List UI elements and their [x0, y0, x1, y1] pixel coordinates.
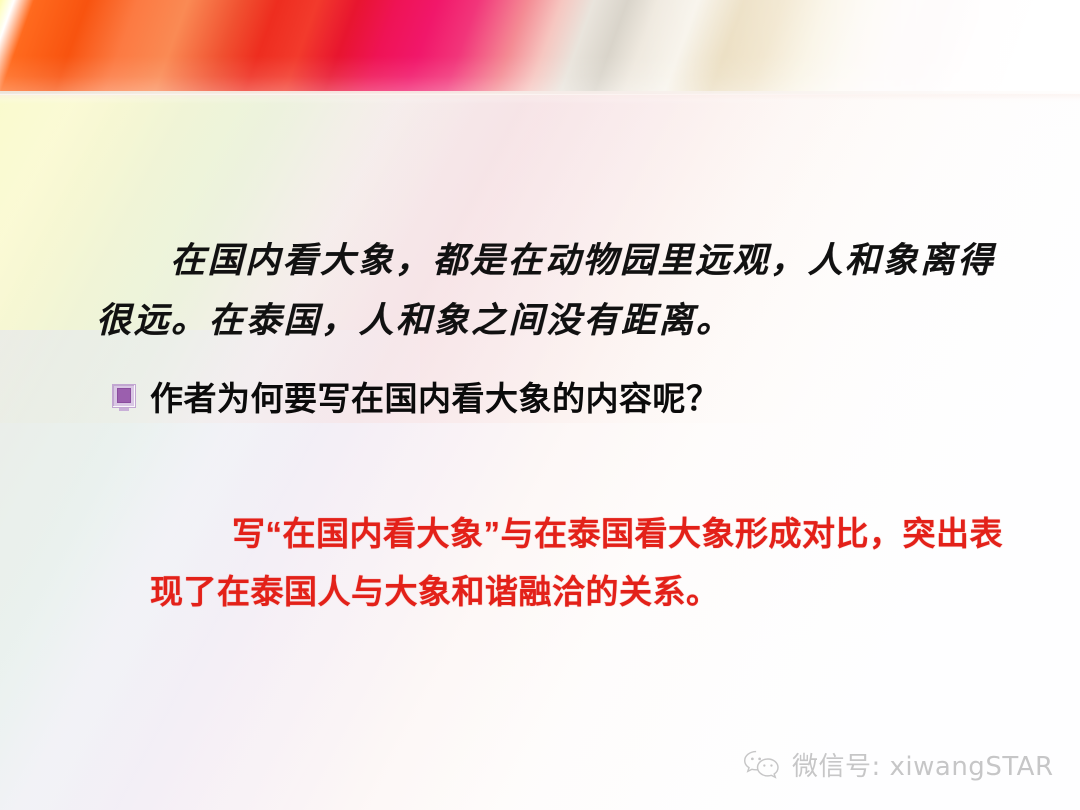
watermark-text: 微信号: xiwangSTAR: [792, 746, 1054, 783]
question-line: 作者为何要写在国内看大象的内容呢？: [112, 372, 720, 420]
footer-watermark: 微信号: xiwangSTAR: [742, 746, 1054, 783]
question-text: 作者为何要写在国内看大象的内容呢？: [150, 372, 720, 420]
wechat-icon: [742, 748, 782, 782]
slide-canvas: 在国内看大象，都是在动物园里远观，人和象离得很远。在泰国，人和象之间没有距离。 …: [0, 0, 1080, 810]
answer-text: 写“在国内看大象”与在泰国看大象形成对比，突出表现了在泰国人与大象和谐融洽的关系…: [150, 505, 1010, 621]
body-paragraph: 在国内看大象，都是在动物园里远观，人和象离得很远。在泰国，人和象之间没有距离。: [96, 231, 1008, 351]
purple-square-bullet-icon: [112, 384, 136, 408]
slide-content: 在国内看大象，都是在动物园里远观，人和象离得很远。在泰国，人和象之间没有距离。 …: [0, 0, 1080, 810]
